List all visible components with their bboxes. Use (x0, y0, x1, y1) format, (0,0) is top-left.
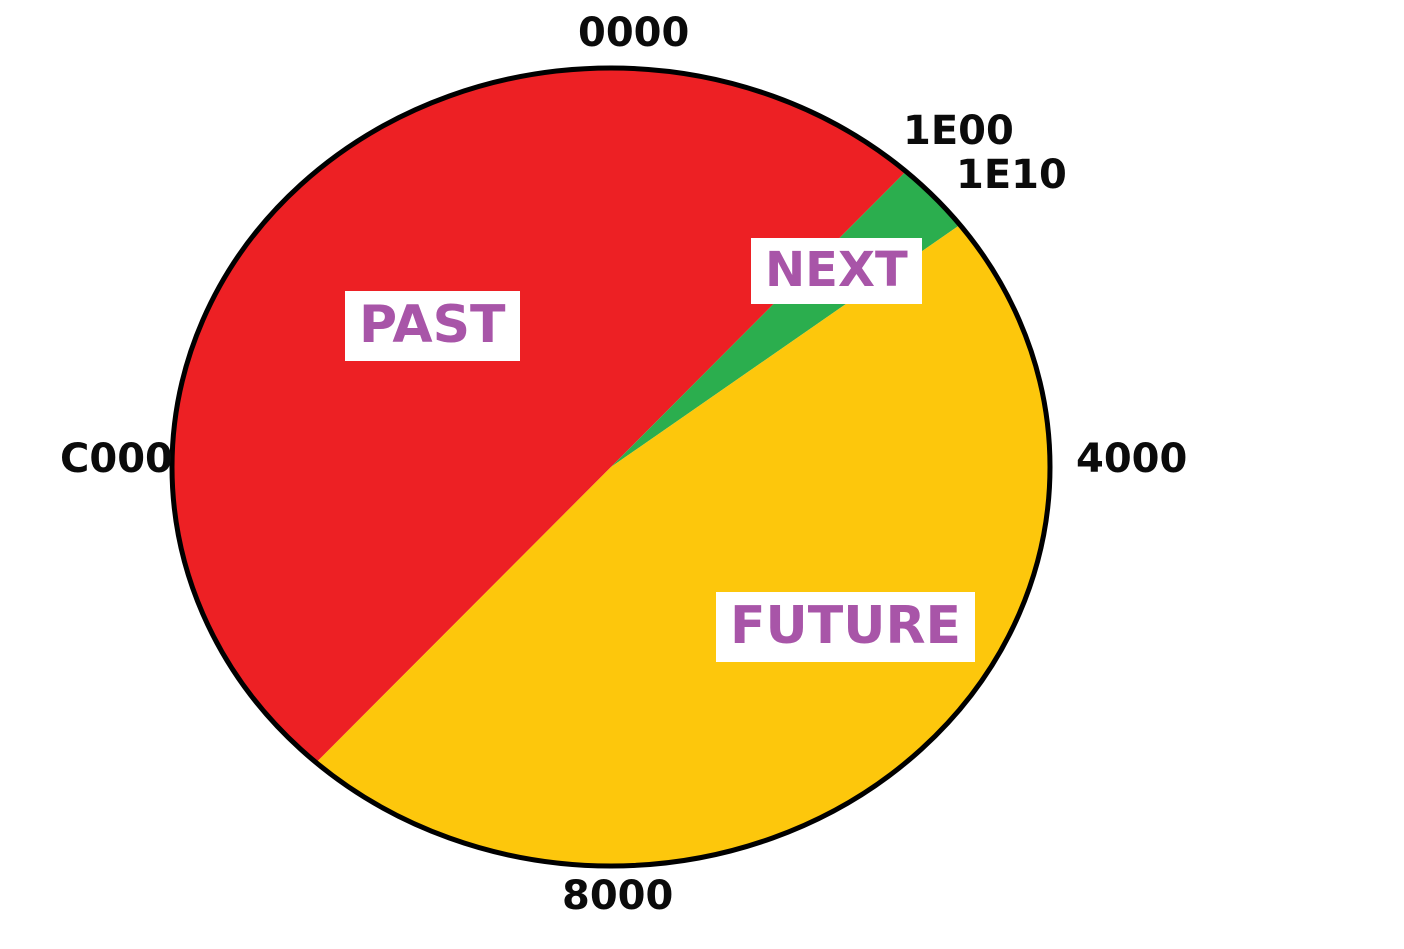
tick-label-c000: C000 (60, 436, 173, 482)
slice-label-future: FUTURE (716, 592, 975, 662)
pie-chart-svg (0, 0, 1404, 949)
tick-label-8000: 8000 (562, 873, 673, 919)
pie-slices (172, 68, 1050, 866)
tick-label-1e10: 1E10 (956, 152, 1067, 198)
slice-label-next: NEXT (751, 238, 922, 304)
slice-label-past: PAST (345, 291, 520, 361)
tick-label-0000: 0000 (578, 10, 689, 56)
tick-label-4000: 4000 (1076, 436, 1187, 482)
pie-chart-figure: 0000 1E00 1E10 4000 8000 C000 PAST NEXT … (0, 0, 1404, 949)
tick-label-1e00: 1E00 (903, 108, 1014, 154)
